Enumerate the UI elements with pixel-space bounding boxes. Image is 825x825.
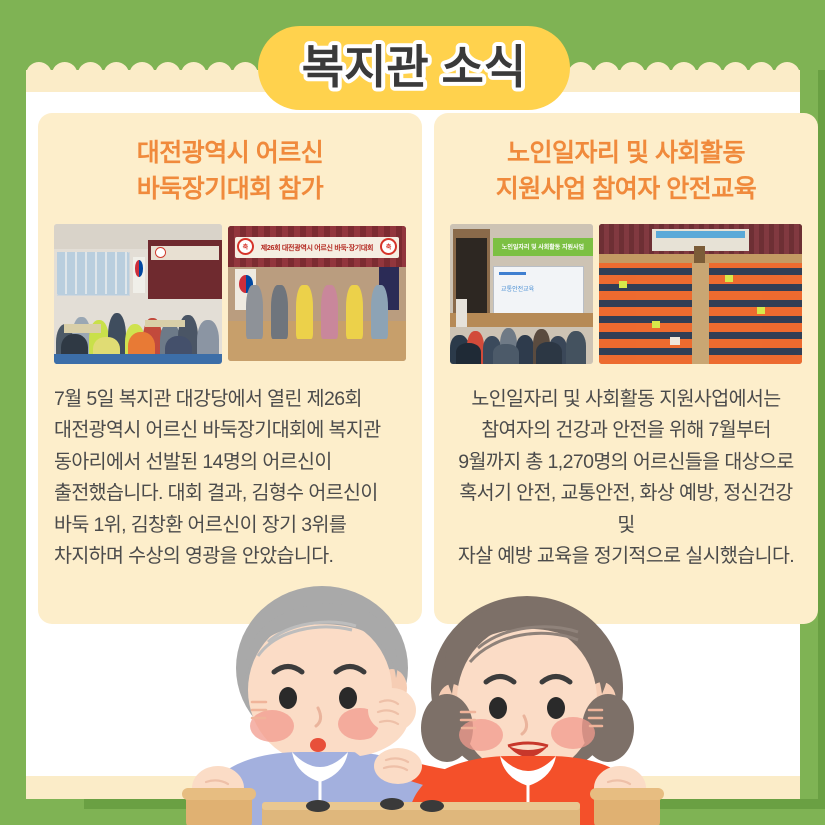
event-banner: 제26회 대전광역시 어르신 바둑·장기대회 <box>235 237 399 259</box>
article-panel-right: 노인일자리 및 사회활동 지원사업 참여자 안전교육 교통안전교육 노인일자리 … <box>434 113 818 624</box>
lecture-hall-seated-audience-photo <box>54 224 222 364</box>
projector-screen-text: 교통안전교육 <box>501 284 576 292</box>
page-title: 복지관 소식 <box>302 41 526 93</box>
card-shadow-right <box>818 70 825 805</box>
program-banner: 노인일자리 및 사회활동 지원사업 <box>493 238 593 256</box>
celebration-badge-left: 축 <box>237 238 254 255</box>
auditorium-overview-photo <box>599 224 802 364</box>
photo-row-left: 제26회 대전광역시 어르신 바둑·장기대회 축 축 <box>54 224 406 364</box>
page-title-svg: 복지관 소식 <box>264 33 564 103</box>
card-bottom-cream-strip <box>26 776 800 799</box>
card-shadow-bottom <box>84 799 825 809</box>
event-banner-text: 제26회 대전광역시 어르신 바둑·장기대회 <box>235 237 399 259</box>
article-heading-right: 노인일자리 및 사회활동 지원사업 참여자 안전교육 <box>496 135 756 208</box>
article-panel-left: 대전광역시 어르신 바둑장기대회 참가 <box>38 113 422 624</box>
audience-rows <box>450 310 593 363</box>
award-winners-group <box>242 285 392 339</box>
vest-rows <box>599 263 802 364</box>
safety-education-screen-photo: 교통안전교육 노인일자리 및 사회활동 지원사업 <box>450 224 593 364</box>
article-body-right: 노인일자리 및 사회활동 지원사업에서는 참여자의 건강과 안전을 위해 7월부… <box>450 384 802 573</box>
seated-crowd <box>54 277 222 364</box>
title-banner: 복지관 소식 <box>258 26 570 110</box>
article-panels: 대전광역시 어르신 바둑장기대회 참가 <box>38 113 788 624</box>
article-heading-left: 대전광역시 어르신 바둑장기대회 참가 <box>137 135 323 208</box>
article-body-left: 7월 5일 복지관 대강당에서 열린 제26회 대전광역시 어르신 바둑장기대회… <box>54 384 406 573</box>
newsletter-card: 복지관 소식 대전광역시 어르신 바둑장기대회 참가 <box>0 0 825 825</box>
photo-row-right: 교통안전교육 노인일자리 및 사회활동 지원사업 <box>450 224 802 364</box>
program-banner-text: 노인일자리 및 사회활동 지원사업 <box>493 238 593 256</box>
award-ceremony-group-photo: 제26회 대전광역시 어르신 바둑·장기대회 축 축 <box>228 226 406 361</box>
